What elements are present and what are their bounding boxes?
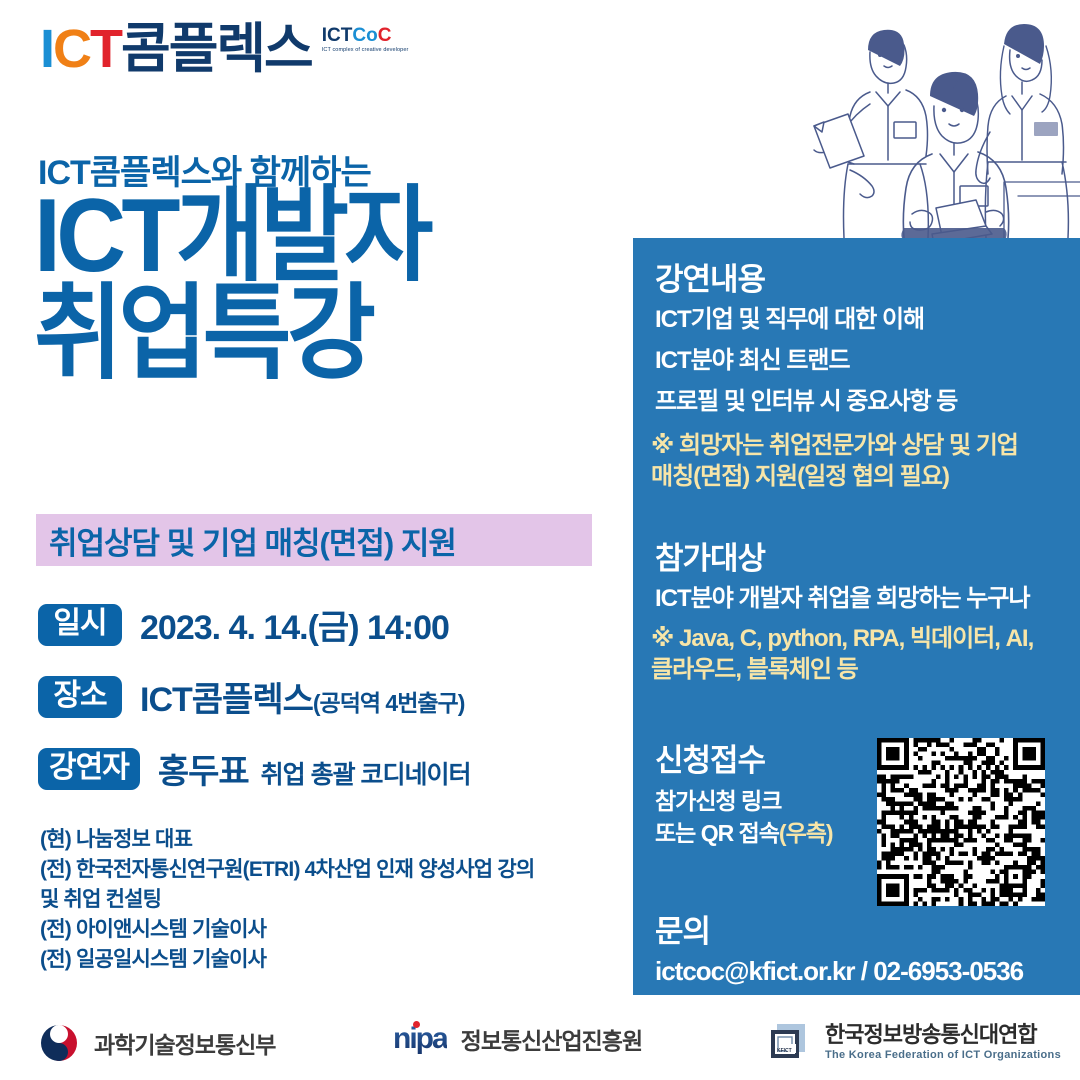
brand-logo: ICT콤플렉스 ICTCoC ICT complex of creative d… — [40, 22, 408, 76]
logo-letter-t: T — [90, 19, 121, 79]
qr-code[interactable] — [877, 738, 1045, 906]
title-line-1: ICT개발자 — [34, 188, 429, 286]
kfict-label-kr: 한국정보방송통신대연합 — [825, 1023, 1061, 1047]
lecture-item: ICT기업 및 직무에 대한 이해 — [655, 304, 924, 335]
nipa-label: 정보통신산업진흥원 — [461, 1022, 642, 1056]
coc-wordmark: ICTCoC — [322, 26, 409, 45]
kfict-label-en: The Korea Federation of ICT Organization… — [825, 1049, 1061, 1061]
info-row-speaker: 강연자 홍두표 취업 총괄 코디네이터 — [38, 744, 471, 793]
svg-text:KFICT: KFICT — [777, 1048, 792, 1054]
nipa-wordmark: nipa — [393, 1022, 447, 1056]
people-illustration — [808, 0, 1080, 238]
taegeuk-icon — [38, 1022, 80, 1064]
title-line-2: 취업특강 — [34, 286, 429, 384]
apply-line-1: 참가신청 링크 — [655, 786, 781, 817]
logo-korean-text: 콤플렉스 — [121, 19, 312, 79]
logo-nipa: nipa 정보통신산업진흥원 — [393, 1022, 642, 1056]
target-heading: 참가대상 — [655, 533, 765, 578]
apply-line-2-plain: 또는 QR 접속 — [655, 820, 779, 846]
bio-item: (전) 아이앤시스템 기술이사 — [40, 915, 640, 945]
nipa-dot-icon — [413, 1021, 420, 1028]
value-speaker: 홍두표 취업 총괄 코디네이터 — [158, 744, 471, 793]
logo-letter-c: C — [53, 19, 90, 79]
coc-letter-c1: C — [352, 25, 366, 46]
apply-heading: 신청접수 — [655, 735, 765, 780]
lecture-item: 프로필 및 인터뷰 시 중요사항 등 — [655, 386, 957, 417]
coc-tagline: ICT complex of creative developer — [322, 47, 409, 53]
qr-code-canvas[interactable] — [877, 738, 1045, 906]
badge-place: 장소 — [38, 676, 122, 718]
value-place-main: ICT콤플렉스 — [140, 672, 313, 721]
logo-letter-i: I — [40, 19, 53, 79]
info-row-place: 장소 ICT콤플렉스 (공덕역 4번출구) — [38, 672, 464, 721]
bio-item: (전) 한국전자통신연구원(ETRI) 4차산업 인재 양성사업 강의 및 취업… — [40, 855, 640, 915]
contact-value: ictcoc@kfict.or.kr / 02-6953-0536 — [655, 954, 1023, 989]
bio-item: (전) 일공일시스템 기술이사 — [40, 945, 640, 975]
ict-coc-sublogo: ICTCoC ICT complex of creative developer — [322, 26, 409, 53]
lecture-item: ICT분야 최신 트랜드 — [655, 345, 850, 376]
footer-logos: 과학기술정보통신부 nipa 정보통신산업진흥원 KFICT 한국정보방송통신대… — [0, 1008, 1080, 1080]
highlight-banner: 취업상담 및 기업 매칭(면접) 지원 — [36, 514, 592, 566]
lecture-note: ※ 희망자는 취업전문가와 상담 및 기업 매칭(면접) 지원(일정 협의 필요… — [651, 430, 1018, 492]
coc-ict-text: ICT — [322, 25, 353, 46]
contact-heading: 문의 — [655, 906, 710, 951]
msit-label: 과학기술정보통신부 — [94, 1026, 275, 1060]
coc-letter-c2: C — [378, 25, 392, 46]
logo-kfict: KFICT 한국정보방송통신대연합 The Korea Federation o… — [765, 1018, 1061, 1066]
highlight-text: 취업상담 및 기업 매칭(면접) 지원 — [36, 518, 456, 563]
target-note: ※ Java, C, python, RPA, 빅데이터, AI, 클라우드, … — [651, 623, 1033, 685]
kfict-text-block: 한국정보방송통신대연합 The Korea Federation of ICT … — [825, 1023, 1061, 1061]
value-date-main: 2023. 4. 14.(금) 14:00 — [140, 600, 449, 649]
info-row-date: 일시 2023. 4. 14.(금) 14:00 — [38, 600, 449, 649]
ict-complex-wordmark: ICT콤플렉스 — [40, 22, 312, 76]
value-place-sub: (공덕역 4번출구) — [313, 684, 464, 718]
bio-item: (현) 나눔정보 대표 — [40, 825, 640, 855]
lecture-heading: 강연내용 — [655, 254, 765, 299]
apply-line-2: 또는 QR 접속(우측) — [655, 818, 833, 849]
badge-speaker: 강연자 — [38, 748, 140, 790]
coc-letter-o: o — [366, 25, 378, 46]
speaker-name: 홍두표 — [158, 744, 249, 793]
logo-msit: 과학기술정보통신부 — [38, 1022, 275, 1064]
badge-date: 일시 — [38, 604, 122, 646]
speaker-bio-list: (현) 나눔정보 대표 (전) 한국전자통신연구원(ETRI) 4차산업 인재 … — [40, 825, 640, 975]
apply-line-2-accent: (우측) — [779, 820, 833, 846]
value-place: ICT콤플렉스 (공덕역 4번출구) — [140, 672, 464, 721]
speaker-role: 취업 총괄 코디네이터 — [261, 755, 471, 791]
target-line: ICT분야 개발자 취업을 희망하는 누구나 — [655, 583, 1030, 614]
page-title: ICT개발자 취업특강 — [34, 188, 429, 384]
poster-root: ICT콤플렉스 ICTCoC ICT complex of creative d… — [0, 0, 1080, 1080]
kfict-mark-icon: KFICT — [765, 1018, 813, 1066]
value-date: 2023. 4. 14.(금) 14:00 — [140, 600, 449, 649]
